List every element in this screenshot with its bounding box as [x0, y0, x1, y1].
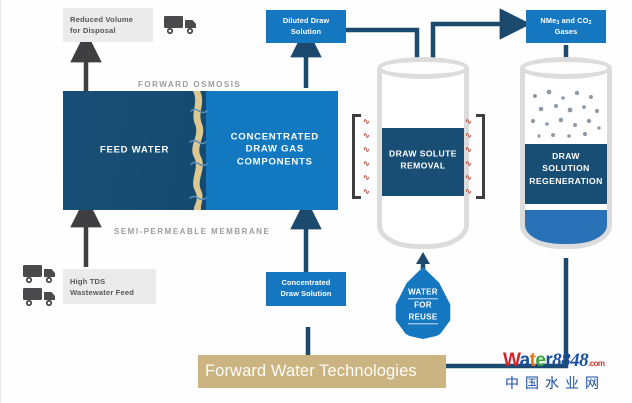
vessel1-label-line1: DRAW SOLUTE [382, 147, 464, 159]
draw-gas-label-line1: CONCENTRATED [212, 131, 339, 144]
watermark-letter-w: W [503, 350, 520, 371]
vessel1-label-line2: REMOVAL [382, 159, 464, 171]
vessel1-label: DRAW SOLUTE REMOVAL [382, 147, 464, 171]
watermark-wordmark: Water8848.com [503, 350, 604, 372]
diluted-draw-line2: Solution [283, 27, 329, 38]
high-tds-line2: Wastewater Feed [70, 287, 134, 298]
diagram-canvas: Reduced Volume for Disposal FORWARD OSMO… [0, 0, 632, 403]
reduced-volume-line1: Reduced Volume [70, 14, 133, 25]
vessel2-rim [520, 57, 612, 79]
concentrated-draw-line2: Draw Solution [281, 289, 332, 300]
vessel2-label-line1: DRAW [525, 150, 607, 162]
gases-line1: NMe3 and CO2 [540, 16, 591, 27]
watermark-number: 8848 [552, 350, 588, 371]
caption-bar: Forward Water Technologies [198, 355, 446, 388]
watermark-tld: .com [588, 359, 604, 368]
watermark-chinese: 中国水业网 [505, 373, 605, 393]
label-concentrated-draw-solution: Concentrated Draw Solution [266, 272, 346, 306]
drop-line1: WATER [408, 286, 438, 299]
vessel1-rim [377, 57, 469, 79]
water-for-reuse-drop: WATER FOR REUSE [394, 267, 452, 339]
vessel2-label-line3: REGENERATION [525, 175, 607, 187]
label-diluted-draw-solution: Diluted Draw Solution [266, 10, 346, 43]
forward-osmosis-chamber: FEED WATER CONCENTRATED DRAW GAS COMPONE… [63, 91, 338, 210]
draw-gas-label-line2: DRAW GAS [212, 144, 339, 157]
caption-semi-permeable-membrane: SEMI-PERMEABLE MEMBRANE [114, 227, 270, 236]
drop-line3: REUSE [408, 311, 437, 324]
watermark-water8848: Water8848.com 中国水业网 [503, 350, 632, 398]
high-tds-line1: High TDS [70, 276, 134, 287]
gases-line2: Gases [540, 27, 591, 38]
draw-gas-label-line3: COMPONENTS [212, 157, 339, 170]
concentrated-draw-line1: Concentrated [281, 278, 332, 289]
vessel2-label: DRAW SOLUTION REGENERATION [525, 150, 607, 187]
label-reduced-volume-for-disposal: Reduced Volume for Disposal [63, 8, 153, 42]
diluted-draw-line1: Diluted Draw [283, 16, 329, 27]
heat-bracket-right [476, 114, 485, 199]
vessel2-label-line2: SOLUTION [525, 162, 607, 174]
heat-symbols-left: ∿∿∿∿∿∿ [363, 118, 370, 196]
reduced-volume-line2: for Disposal [70, 25, 133, 36]
water-drop-label: WATER FOR REUSE [394, 286, 452, 324]
drop-line2: FOR [394, 299, 452, 311]
gas-bubbles-icon [525, 84, 607, 144]
watermark-letter-e: e [535, 350, 545, 371]
watermark-letter-a: a [520, 350, 530, 371]
truck-icon [164, 14, 198, 41]
feed-water-label: FEED WATER [63, 144, 206, 157]
heat-bracket-left [352, 114, 361, 199]
truck-icon-feed-2 [23, 286, 57, 313]
label-high-tds-wastewater-feed: High TDS Wastewater Feed [63, 269, 156, 304]
vessel-draw-solute-removal: DRAW SOLUTE REMOVAL [377, 57, 469, 249]
vessel2-body: DRAW SOLUTION REGENERATION [520, 65, 612, 249]
vessel2-liquid-mid [523, 210, 609, 249]
draw-gas-label: CONCENTRATED DRAW GAS COMPONENTS [212, 131, 339, 170]
heat-symbols-right: ∿∿∿∿∿∿ [465, 118, 472, 196]
vessel-draw-solution-regeneration: DRAW SOLUTION REGENERATION [520, 57, 612, 249]
vessel1-body: DRAW SOLUTE REMOVAL [377, 65, 469, 249]
caption-forward-osmosis: FORWARD OSMOSIS [138, 80, 241, 89]
label-nme3-co2-gases: NMe3 and CO2 Gases [526, 10, 606, 43]
